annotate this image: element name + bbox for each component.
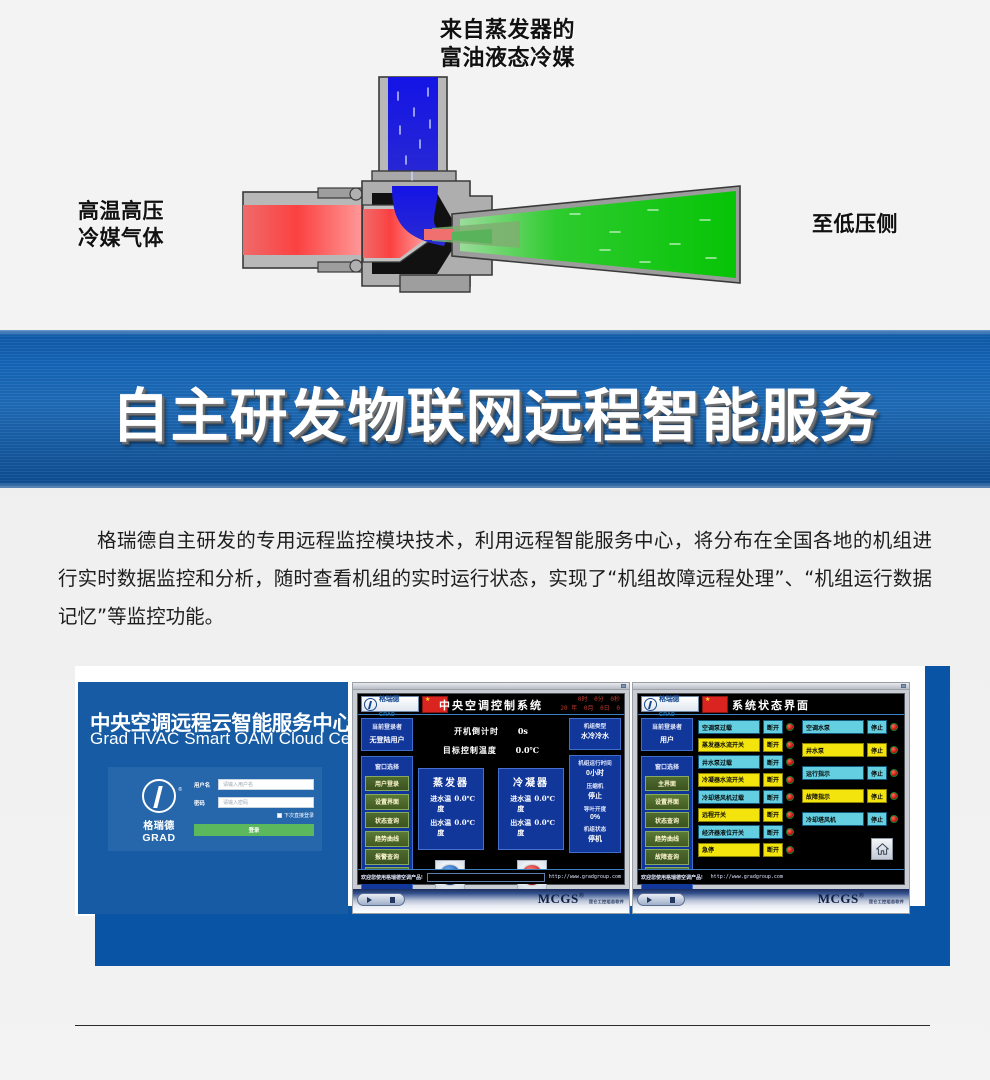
status-value: 停止 — [867, 743, 887, 757]
decor-blue-bar-right — [925, 666, 950, 916]
status-led-icon — [786, 723, 794, 731]
login-form: 用户名 请输入用户名 密码 请输入密码 下次直接登录 登录 — [194, 779, 314, 836]
section-banner: 自主研发物联网远程智能服务 — [0, 330, 990, 488]
login-submit-button[interactable]: 登录 — [194, 824, 314, 836]
target-temp-value: 0.0℃ — [516, 745, 540, 755]
password-row: 密码 请输入密码 — [194, 797, 314, 808]
status-column-left: 空调泵过载 断开 蒸发器水流开关 断开 井水泵过载 断开 — [698, 720, 794, 864]
status-status-bar: 欢迎您使用格瑞德空调产品! http://www.gradgroup.com — [638, 869, 904, 884]
remember-me-row[interactable]: 下次直接登录 — [194, 812, 314, 819]
status-led-icon — [890, 769, 898, 777]
status-led-icon — [786, 793, 794, 801]
current-user-title: 当前登录者 — [362, 719, 412, 733]
status-name: 远程开关 — [698, 808, 760, 822]
banner-title: 自主研发物联网远程智能服务 — [111, 369, 878, 453]
status-nav-column: 当前登录者 用户 窗口选择 主界面 设置界面 状态查询 趋势曲线 故障查询 帮助… — [641, 718, 693, 892]
window-close-icon[interactable] — [621, 684, 626, 688]
password-label: 密码 — [194, 799, 218, 807]
stop-icon[interactable] — [670, 897, 675, 903]
status-name: 井水泵 — [802, 743, 864, 757]
unit-type-value: 水冷冷水 — [572, 731, 618, 741]
control-info-column: 机组类型 水冷冷水 机组运行时间 0小时 压缩机 停止 导叶开度 0% 机组状态… — [569, 718, 621, 853]
status-value: 断开 — [763, 720, 783, 734]
current-user-panel: 当前登录者 无登陆用户 — [361, 718, 413, 751]
status-name: 蒸发器水流开关 — [698, 738, 760, 752]
login-screenshot: 中央空调远程云智能服务中心 Grad HVAC Smart OAM Cloud … — [78, 682, 348, 914]
unit-type-label: 机组类型 — [572, 722, 618, 730]
mcgs-subtitle: 昆仑工控组态软件 — [869, 899, 904, 904]
play-icon[interactable] — [647, 897, 652, 903]
status-value: 断开 — [763, 825, 783, 839]
window-menu-title: 窗口选择 — [645, 759, 689, 773]
nav-fault-query[interactable]: 故障查询 — [645, 849, 689, 865]
status-led-icon — [890, 792, 898, 800]
condenser-box: 冷凝器 进水温度 0.0℃ 出水温度 0.0℃ — [498, 768, 564, 850]
clock-minute: 0分 — [594, 696, 604, 703]
status-row: 井水泵过载 断开 — [698, 755, 794, 769]
status-led-icon — [786, 846, 794, 854]
evaporator-title: 蒸发器 — [423, 774, 479, 789]
home-icon — [875, 842, 890, 856]
status-screen: 格瑞德 GRAD 系统状态界面 当前登录者 用户 窗口选择 主界面 设置界面 状… — [637, 693, 905, 885]
ejector-diagram-section: 来自蒸发器的 富油液态冷媒 高温高压 冷媒气体 至低压侧 — [0, 0, 990, 330]
username-label: 用户名 — [194, 781, 218, 789]
runtime-label: 机组运行时间 — [572, 759, 618, 767]
intro-paragraph: 格瑞德自主研发的专用远程监控模块技术，利用远程智能服务中心，将分布在全国各地的机… — [58, 522, 932, 636]
evaporator-box: 蒸发器 进水温度 0.0℃ 出水温度 0.0℃ — [418, 768, 484, 850]
status-row: 空调水泵 停止 — [802, 720, 898, 734]
nav-trend-curve[interactable]: 趋势曲线 — [645, 831, 689, 847]
evaporator-inlet-value: 0.0℃ — [454, 794, 475, 814]
status-led-icon — [890, 723, 898, 731]
control-main-area: 开机倒计时 0s 目标控制温度 0.0℃ 蒸发器 进水温度 0.0℃ — [418, 718, 564, 864]
status-value: 断开 — [763, 808, 783, 822]
login-card: ® 格瑞德 GRAD 用户名 请输入用户名 密码 请输入密码 下次直接登录 登录 — [108, 767, 322, 851]
mcgs-subtitle: 昆仑工控组态软件 — [589, 899, 624, 904]
countdown-value: 0s — [518, 726, 528, 736]
control-app-header: 格瑞德 GRAD 中央空调控制系统 0时 0分 0秒 20 年 0月 0 — [358, 694, 624, 715]
mcgs-logo: MCGS® 昆仑工控组态软件 — [538, 891, 624, 907]
page-root: 来自蒸发器的 富油液态冷媒 高温高压 冷媒气体 至低压侧 自主研发物联网远程智能… — [0, 0, 990, 1080]
unit-status-box: 机组运行时间 0小时 压缩机 停止 导叶开度 0% 机组状态 停机 — [569, 755, 621, 853]
welcome-text: 欢迎您使用格瑞德空调产品! — [361, 874, 423, 881]
status-led-icon — [786, 811, 794, 819]
control-screen: 格瑞德 GRAD 中央空调控制系统 0时 0分 0秒 20 年 0月 0 — [357, 693, 625, 885]
unit-state-value: 停机 — [572, 834, 618, 844]
clock-second: 0秒 — [610, 696, 620, 703]
condenser-outlet-label: 出水温度 — [507, 818, 534, 838]
diagram-label-top: 来自蒸发器的 富油液态冷媒 — [440, 16, 575, 72]
current-user-title: 当前登录者 — [642, 719, 692, 733]
unit-type-box: 机组类型 水冷冷水 — [569, 718, 621, 750]
clock-month: 0月 — [584, 705, 594, 712]
clock-weekday: 0 — [616, 705, 620, 712]
diagram-label-left: 高温高压 冷媒气体 — [78, 199, 164, 253]
status-name: 经济器液位开关 — [698, 825, 760, 839]
condenser-outlet-value: 0.0℃ — [534, 818, 555, 838]
status-app-title: 系统状态界面 — [638, 697, 904, 713]
grad-logo-en: GRAD — [128, 832, 190, 844]
status-name: 故障指示 — [802, 789, 864, 803]
home-button[interactable] — [871, 838, 893, 860]
control-status-bar: 欢迎您使用格瑞德空调产品! http://www.gradgroup.com — [358, 869, 624, 884]
status-led-icon — [786, 828, 794, 836]
control-nav-column: 当前登录者 无登陆用户 窗口选择 用户登录 设置界面 状态查询 趋势曲线 报警查… — [361, 718, 413, 892]
status-led-icon — [786, 776, 794, 784]
runtime-value: 0小时 — [572, 768, 618, 778]
target-temp-row: 目标控制温度 0.0℃ — [418, 745, 564, 756]
runtime-play-controls[interactable] — [357, 893, 405, 906]
nav-trend-curve[interactable]: 趋势曲线 — [365, 831, 409, 847]
countdown-label: 开机倒计时 — [454, 726, 499, 736]
login-title-en: Grad HVAC Smart OAM Cloud Center — [90, 729, 348, 749]
status-row: 急停 断开 — [698, 843, 794, 857]
mcgs-reg: ® — [579, 892, 585, 900]
condenser-inlet-value: 0.0℃ — [534, 794, 555, 814]
evaporator-outlet-value: 0.0℃ — [454, 818, 475, 838]
vane-label: 导叶开度 — [572, 805, 618, 813]
status-row: 空调泵过载 断开 — [698, 720, 794, 734]
condenser-title: 冷凝器 — [503, 774, 559, 789]
play-icon[interactable] — [367, 897, 372, 903]
registered-mark: ® — [178, 787, 182, 793]
status-value: 停止 — [867, 812, 887, 826]
status-name: 空调水泵 — [802, 720, 864, 734]
remember-me-checkbox[interactable] — [277, 813, 282, 818]
clock-day: 0日 — [600, 705, 610, 712]
condenser-inlet-label: 进水温度 — [507, 794, 534, 814]
unit-state-label: 机组状态 — [572, 825, 618, 833]
status-app-header: 格瑞德 GRAD 系统状态界面 — [638, 694, 904, 715]
status-row: 故障指示 停止 — [802, 789, 898, 803]
status-value: 停止 — [867, 789, 887, 803]
diagram-label-right: 至低压侧 — [812, 212, 898, 239]
status-name: 急停 — [698, 843, 760, 857]
control-system-screenshot: 格瑞德 GRAD 中央空调控制系统 0时 0分 0秒 20 年 0月 0 — [352, 682, 630, 914]
unit-boxes: 蒸发器 进水温度 0.0℃ 出水温度 0.0℃ 冷凝器 进水温 — [418, 768, 564, 850]
status-row: 经济器液位开关 断开 — [698, 825, 794, 839]
compressor-value: 停止 — [572, 791, 618, 801]
status-led-icon — [786, 741, 794, 749]
clock-display: 0时 0分 0秒 20 年 0月 0日 0 — [557, 695, 620, 713]
nav-settings[interactable]: 设置界面 — [645, 794, 689, 810]
grad-logo-cn: 格瑞德 — [128, 817, 190, 832]
current-user-value: 用户 — [642, 733, 692, 750]
status-value: 断开 — [763, 738, 783, 752]
status-row: 运行指示 停止 — [802, 766, 898, 780]
nav-user-login[interactable]: 用户登录 — [365, 776, 409, 792]
decor-blue-block — [95, 906, 950, 966]
vane-value: 0% — [572, 814, 618, 821]
window-close-icon[interactable] — [901, 684, 906, 688]
status-value: 断开 — [763, 790, 783, 804]
status-value: 断开 — [763, 843, 783, 857]
status-row: 远程开关 断开 — [698, 808, 794, 822]
status-row: 冷凝器水流开关 断开 — [698, 773, 794, 787]
status-row: 冷却塔风机 停止 — [802, 812, 898, 826]
vendor-url[interactable]: http://www.gradgroup.com — [549, 874, 621, 880]
status-input[interactable] — [427, 873, 545, 882]
status-row: 井水泵 停止 — [802, 743, 898, 757]
welcome-text: 欢迎您使用格瑞德空调产品! — [641, 874, 703, 881]
nav-status-query[interactable]: 状态查询 — [365, 812, 409, 828]
clock-hour: 0时 — [578, 696, 588, 703]
stop-icon[interactable] — [390, 897, 395, 903]
status-name: 冷却塔风机过载 — [698, 790, 760, 804]
status-led-icon — [786, 758, 794, 766]
mcgs-taskbar: MCGS® 昆仑工控组态软件 — [353, 889, 629, 913]
nav-alarm-query[interactable]: 报警查询 — [365, 849, 409, 865]
grad-logo: ® 格瑞德 GRAD — [128, 779, 190, 844]
username-row: 用户名 请输入用户名 — [194, 779, 314, 790]
mcgs-taskbar: MCGS® 昆仑工控组态软件 — [633, 889, 909, 913]
password-input[interactable]: 请输入密码 — [218, 797, 314, 808]
status-name: 运行指示 — [802, 766, 864, 780]
status-name: 井水泵过载 — [698, 755, 760, 769]
current-user-panel: 当前登录者 用户 — [641, 718, 693, 751]
remember-me-label: 下次直接登录 — [284, 812, 314, 819]
mcgs-logo: MCGS® 昆仑工控组态软件 — [818, 891, 904, 907]
mcgs-name: MCGS — [818, 891, 859, 906]
mcgs-reg: ® — [859, 892, 865, 900]
nav-settings[interactable]: 设置界面 — [365, 794, 409, 810]
countdown-row: 开机倒计时 0s — [418, 726, 564, 737]
current-user-value: 无登陆用户 — [362, 733, 412, 750]
runtime-play-controls[interactable] — [637, 893, 685, 906]
status-interface-screenshot: 格瑞德 GRAD 系统状态界面 当前登录者 用户 窗口选择 主界面 设置界面 状… — [632, 682, 910, 914]
status-name: 冷凝器水流开关 — [698, 773, 760, 787]
status-row: 冷却塔风机过载 断开 — [698, 790, 794, 804]
status-value: 停止 — [867, 720, 887, 734]
username-input[interactable]: 请输入用户名 — [218, 779, 314, 790]
clock-year: 20 年 — [560, 705, 577, 712]
window-menu-title: 窗口选择 — [365, 759, 409, 773]
target-temp-label: 目标控制温度 — [443, 745, 497, 755]
status-value: 断开 — [763, 755, 783, 769]
evaporator-inlet-label: 进水温度 — [427, 794, 454, 814]
nav-main-screen[interactable]: 主界面 — [645, 776, 689, 792]
nav-status-query[interactable]: 状态查询 — [645, 812, 689, 828]
status-value: 停止 — [867, 766, 887, 780]
status-led-icon — [890, 815, 898, 823]
status-name: 冷却塔风机 — [802, 812, 864, 826]
status-name: 空调泵过载 — [698, 720, 760, 734]
vendor-url[interactable]: http://www.gradgroup.com — [711, 874, 783, 880]
compressor-label: 压缩机 — [572, 782, 618, 790]
mcgs-name: MCGS — [538, 891, 579, 906]
evaporator-outlet-label: 出水温度 — [427, 818, 454, 838]
status-value: 断开 — [763, 773, 783, 787]
intro-section: 格瑞德自主研发的专用远程监控模块技术，利用远程智能服务中心，将分布在全国各地的机… — [0, 488, 990, 658]
status-row: 蒸发器水流开关 断开 — [698, 738, 794, 752]
status-grid: 空调泵过载 断开 蒸发器水流开关 断开 井水泵过载 断开 — [698, 720, 898, 864]
status-led-icon — [890, 746, 898, 754]
grad-logo-mark — [142, 779, 176, 813]
bottom-divider — [75, 1025, 930, 1026]
